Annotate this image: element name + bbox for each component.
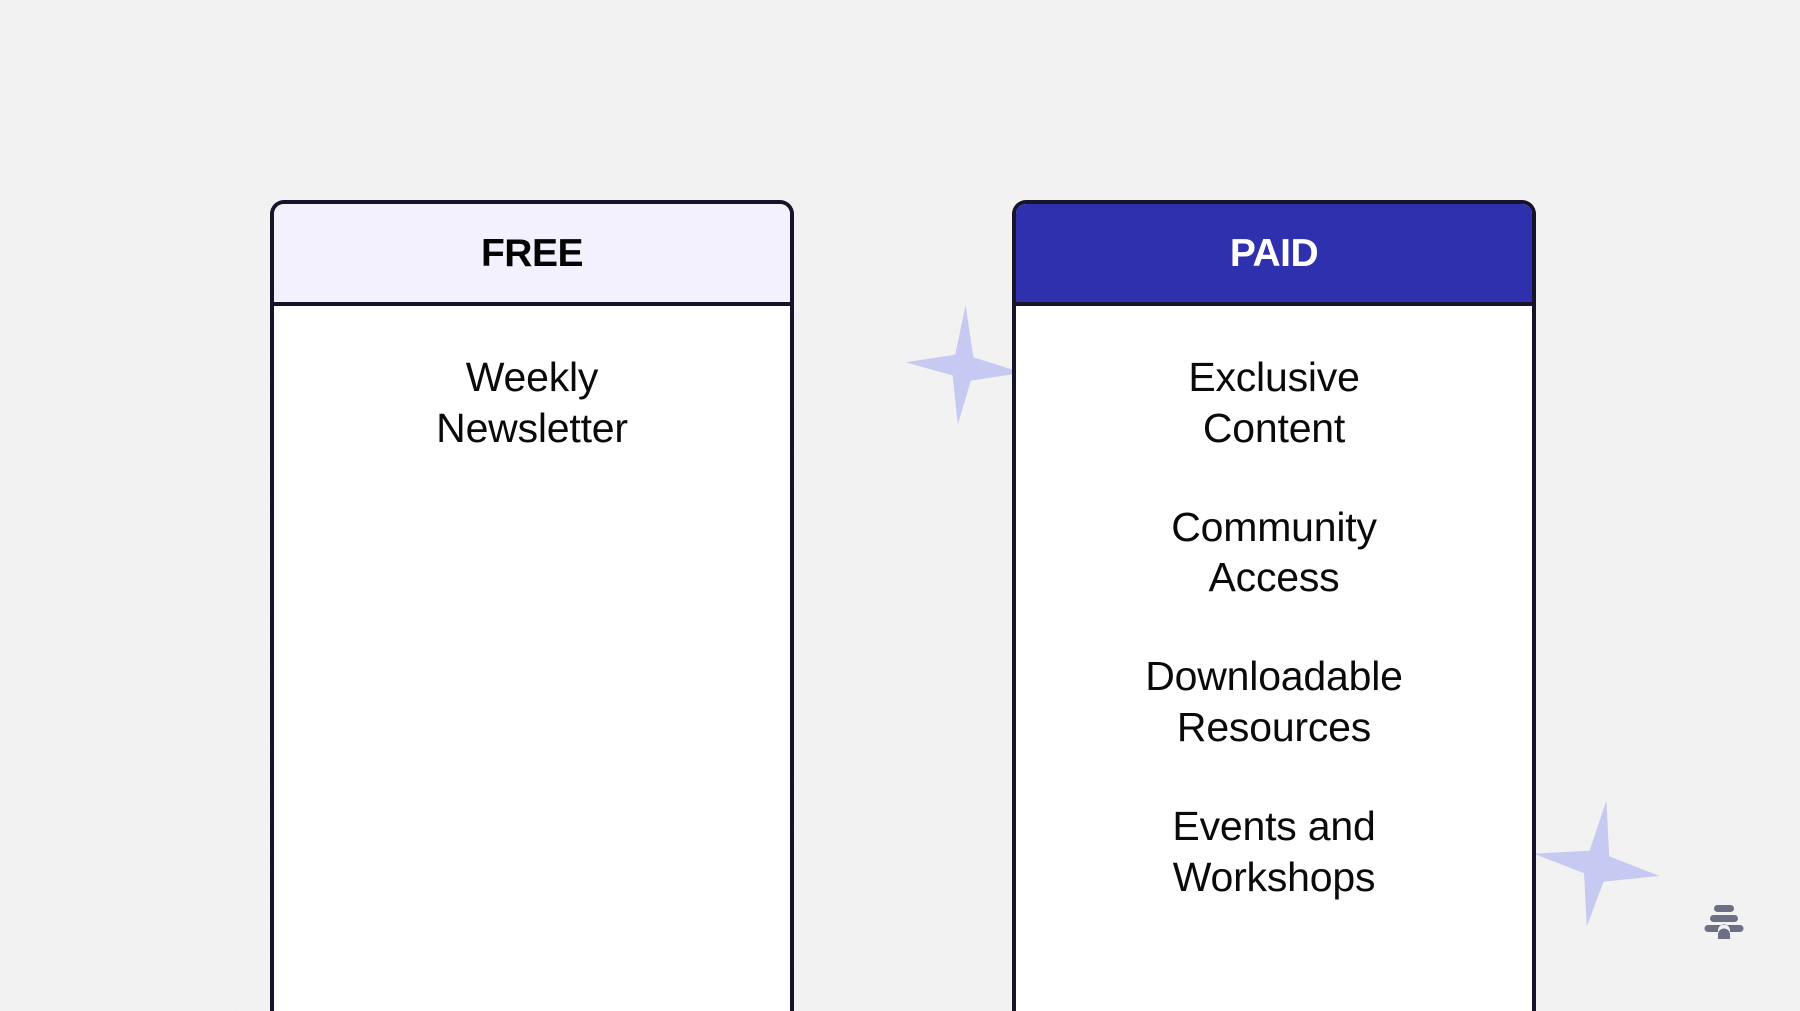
feature-item: Community Access [1046, 502, 1502, 604]
plan-card-free[interactable]: FREE Weekly Newsletter [270, 200, 794, 1011]
plan-header-paid: PAID [1016, 204, 1532, 306]
plan-header-free: FREE [274, 204, 790, 306]
feature-item: Weekly Newsletter [304, 352, 760, 454]
plan-features-paid: Exclusive Content Community Access Downl… [1016, 306, 1532, 903]
plan-title-paid: PAID [1230, 234, 1318, 273]
plan-features-free: Weekly Newsletter [274, 306, 790, 454]
feature-item: Exclusive Content [1046, 352, 1502, 454]
beehive-logo-icon [1700, 898, 1748, 946]
feature-item: Events and Workshops [1046, 801, 1502, 903]
feature-item: Downloadable Resources [1046, 651, 1502, 753]
plan-title-free: FREE [481, 234, 583, 273]
comparison-stage: FREE Weekly Newsletter PAID Exclusive Co… [0, 0, 1800, 1011]
four-point-sparkle-icon [898, 300, 1028, 430]
four-point-sparkle-icon [1528, 792, 1668, 932]
plan-card-paid[interactable]: PAID Exclusive Content Community Access … [1012, 200, 1536, 1011]
